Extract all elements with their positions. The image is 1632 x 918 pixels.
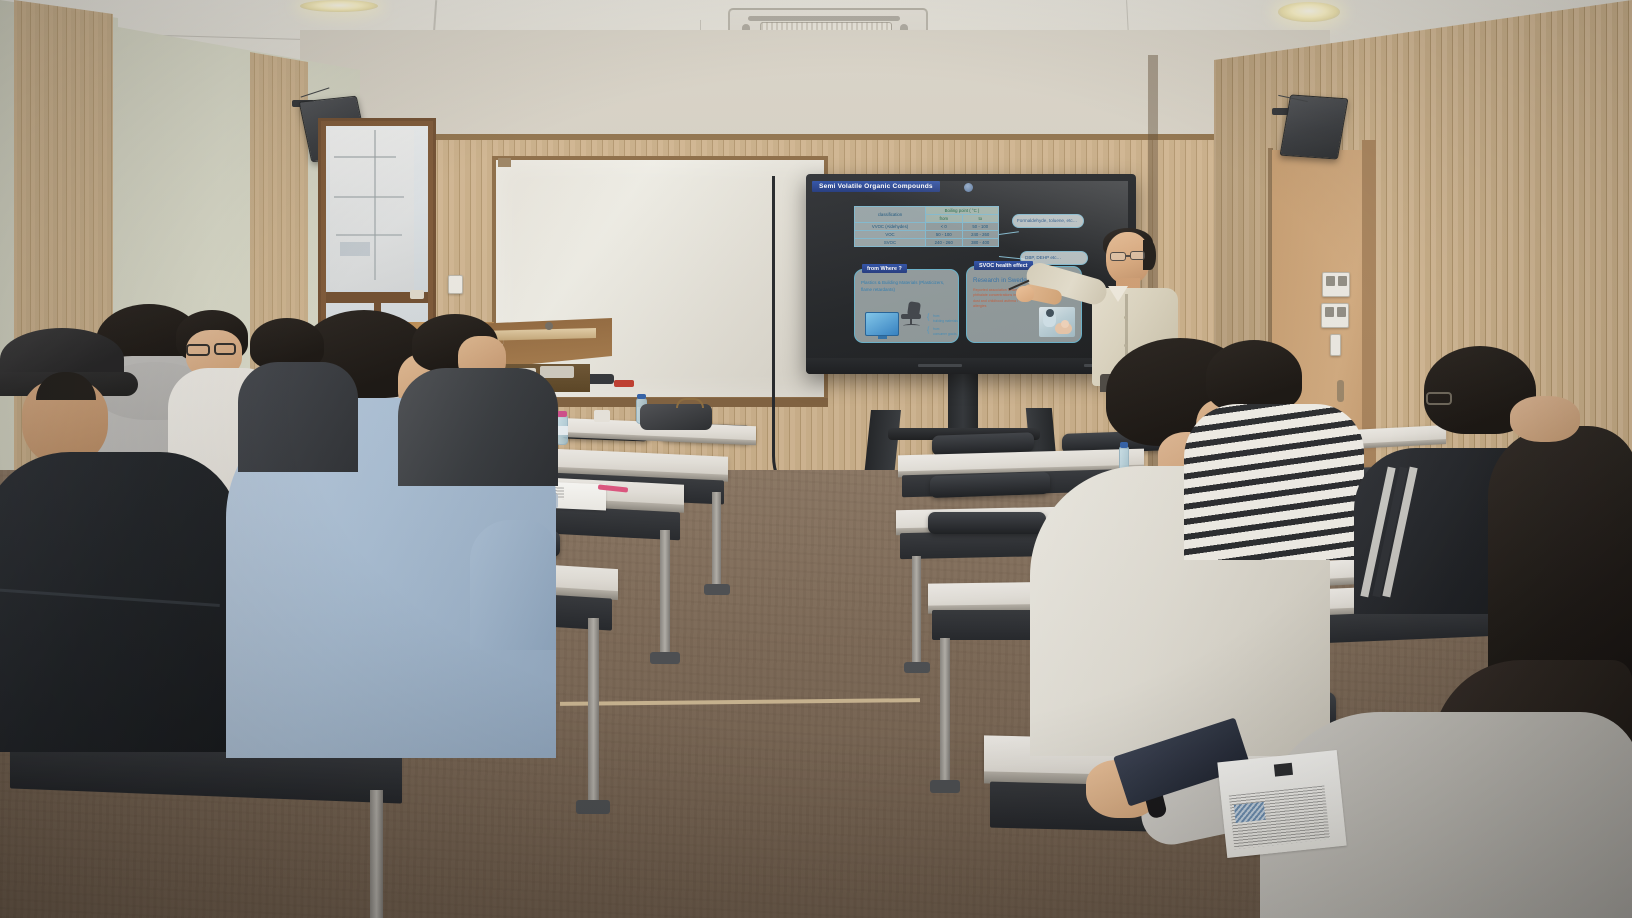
wall-speaker-right — [1280, 94, 1349, 159]
bottle-cap — [637, 394, 646, 399]
desk-foot — [704, 584, 730, 595]
panel-right-header: SVOC health effect — [974, 261, 1033, 270]
monitor-stand-icon — [878, 336, 887, 339]
outside-building-view — [330, 130, 414, 290]
light-switch-left[interactable] — [448, 275, 463, 294]
podium-device — [540, 366, 574, 378]
light-switch-panel[interactable] — [1321, 303, 1349, 328]
ceiling-downlight — [1278, 2, 1340, 22]
student-striped-hair — [1206, 340, 1302, 412]
callout-formaldehyde: Formaldehyde, toluene, etc… — [1012, 214, 1084, 228]
windowsill-object — [410, 290, 424, 299]
printed-document — [1217, 750, 1346, 858]
table-row: VOC 50 - 100 240 - 260 — [855, 231, 999, 239]
desk-leg — [712, 492, 721, 592]
wall-sensor — [1330, 334, 1341, 356]
desk-leg — [660, 530, 670, 660]
desk-foot — [930, 780, 960, 793]
panel-left-header: from Where ? — [862, 264, 907, 273]
table-header-classification: classification — [855, 207, 926, 223]
desk-leg — [940, 638, 950, 788]
boiling-point-table: classification Boiling point ( °C ) from… — [854, 206, 999, 247]
desk-leg — [370, 790, 383, 918]
glasses-bridge — [1125, 255, 1131, 257]
glasses-icon — [1426, 392, 1452, 405]
classroom-photo-scene: Semi Volatile Organic Compounds classifi… — [0, 0, 1632, 918]
student-blue-shirt-arm — [470, 520, 556, 650]
glasses-icon — [1130, 251, 1145, 260]
light-switch-panel[interactable] — [1322, 272, 1350, 297]
display-stand-neck — [948, 374, 978, 432]
table-header-group: Boiling point ( °C ) — [926, 207, 999, 215]
presentation-slide: Semi Volatile Organic Compounds classifi… — [806, 174, 1120, 351]
bottle-cap — [557, 411, 567, 417]
student-striped — [1184, 404, 1364, 560]
door-handle-icon[interactable] — [1337, 380, 1344, 402]
marker-icon — [614, 380, 634, 387]
whiteboard-clip — [498, 158, 511, 167]
desk-foot — [650, 652, 680, 664]
logo-badge-icon — [964, 183, 973, 192]
student-dark-row2 — [398, 368, 558, 486]
bag-strap — [676, 398, 704, 408]
table-row: SVOC 240 - 260 380 - 400 — [855, 239, 999, 247]
desk-foot — [576, 800, 610, 814]
presenter-hand — [1016, 286, 1034, 302]
chair — [930, 472, 1050, 498]
office-chair-icon — [901, 302, 923, 328]
student-long-hair-head — [1510, 396, 1580, 442]
student-row2 — [238, 362, 358, 472]
microphone-icon — [545, 322, 553, 330]
desk-leg — [588, 618, 599, 808]
bottle-cap — [1120, 442, 1128, 448]
glasses-icon — [186, 344, 210, 356]
ceiling-downlight — [300, 0, 378, 12]
slide-title: Semi Volatile Organic Compounds — [812, 181, 940, 192]
desk-leg — [912, 556, 921, 668]
table-header-from: from — [926, 215, 962, 223]
monitor-icon — [865, 312, 899, 336]
table-row: VVOC (Aldehydes) < 0 50 - 100 — [855, 223, 999, 231]
panel-from-where: from Where ? Plastics & Building Materia… — [854, 269, 959, 343]
desk-foot — [904, 662, 930, 673]
chair — [928, 512, 1046, 534]
child-photo-icon — [1039, 307, 1075, 337]
desk-cup — [594, 410, 610, 422]
panel-left-body: Plastics & Building Materials (Plasticiz… — [861, 280, 953, 293]
glasses-icon — [1110, 252, 1126, 261]
glasses-icon — [214, 343, 236, 355]
table-header-to: to — [962, 215, 999, 223]
display-brand-mark — [918, 364, 962, 367]
